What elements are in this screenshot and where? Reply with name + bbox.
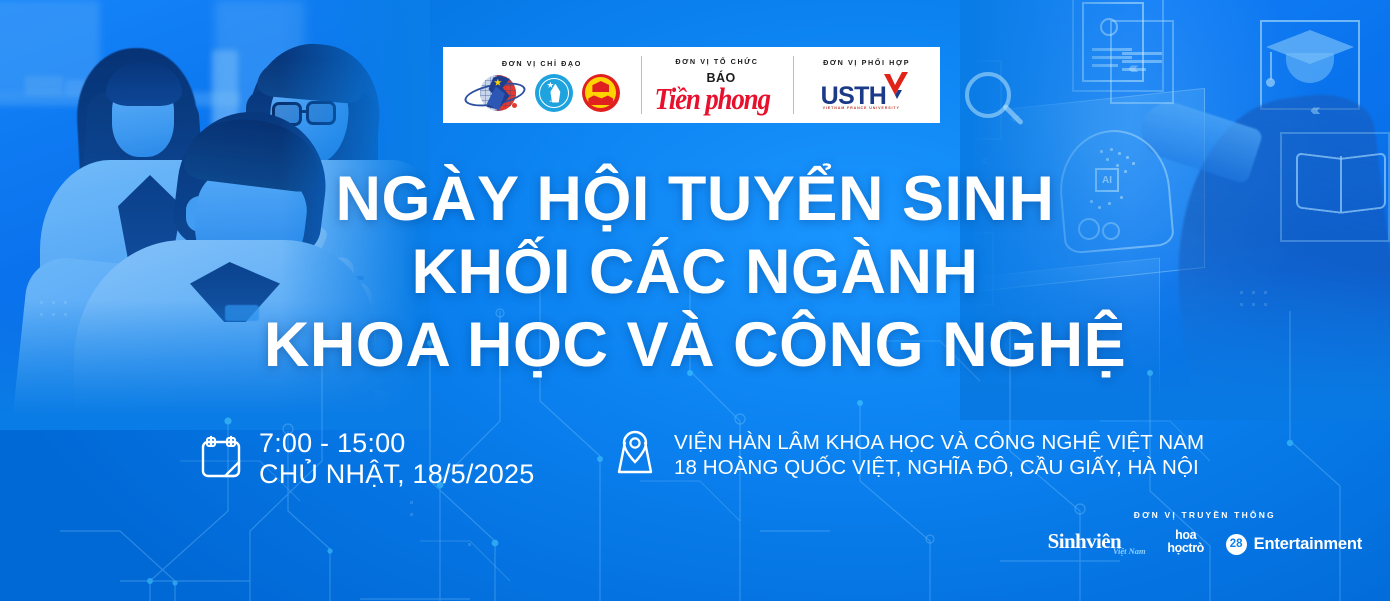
logo-column-caption: ĐƠN VỊ PHỐI HỢP: [823, 58, 910, 67]
event-title: NGÀY HỘI TUYỂN SINH KHỐI CÁC NGÀNH KHOA …: [0, 163, 1390, 382]
venue-name: VIỆN HÀN LÂM KHOA HỌC VÀ CÔNG NGHỆ VIỆT …: [674, 430, 1204, 455]
sinh-vien-viet-nam-logo: Sinhviên Việt Nam: [1048, 529, 1146, 559]
logo-column-to-chuc: ĐƠN VỊ TỔ CHỨC BÁO Tiền phong: [641, 47, 793, 123]
hoa-hoc-tro-logo: hoa họctrò: [1160, 529, 1212, 559]
usth-checkmark-icon: [881, 70, 911, 100]
flame-circle-logo: ●●●●●: [535, 74, 573, 112]
28-badge-icon: 28: [1226, 534, 1247, 555]
usth-logo: USTH VIETNAM FRANCE UNIVERSITY: [817, 72, 917, 114]
entertainment-text: Entertainment: [1254, 535, 1362, 554]
28-entertainment-logo: 28 Entertainment: [1226, 534, 1362, 555]
magnifier-icon: [965, 72, 1011, 118]
event-day: CHỦ NHẬT, 18/5/2025: [259, 459, 534, 490]
event-location-text: VIỆN HÀN LÂM KHOA HỌC VÀ CÔNG NGHỆ VIỆT …: [674, 430, 1204, 480]
title-line-3: KHOA HỌC VÀ CÔNG NGHỆ: [0, 309, 1390, 382]
media-partners-block: ĐƠN VỊ TRUYỀN THÔNG Sinhviên Việt Nam ho…: [1048, 510, 1362, 559]
event-time: 7:00 - 15:00: [259, 428, 534, 459]
event-location-block: VIỆN HÀN LÂM KHOA HỌC VÀ CÔNG NGHỆ VIỆT …: [613, 428, 1204, 481]
map-pin-icon: [613, 428, 657, 481]
sinh-vien-main-text: Sinhviên: [1048, 529, 1121, 554]
vast-logo: [464, 73, 526, 113]
event-datetime-block: 7:00 - 15:00 CHỦ NHẬT, 18/5/2025: [199, 428, 534, 490]
logo-column-chi-dao: ĐƠN VỊ CHỈ ĐẠO ●●●●●: [443, 47, 641, 123]
red-yellow-emblem-logo: [582, 74, 620, 112]
logo-column-caption: ĐƠN VỊ TỔ CHỨC: [675, 57, 758, 66]
logo-column-phoi-hop: ĐƠN VỊ PHỐI HỢP USTH VIETNAM FRANCE UNIV…: [793, 47, 940, 123]
venue-address: 18 HOÀNG QUỐC VIỆT, NGHĨA ĐÔ, CẦU GIẤY, …: [674, 455, 1204, 480]
hoa-hoc-tro-line-2: họctrò: [1160, 542, 1212, 555]
title-line-2: KHỐI CÁC NGÀNH: [0, 236, 1390, 309]
event-datetime-text: 7:00 - 15:00 CHỦ NHẬT, 18/5/2025: [259, 428, 534, 490]
logo-column-caption: ĐƠN VỊ CHỈ ĐẠO: [502, 59, 582, 68]
title-line-1: NGÀY HỘI TUYỂN SINH: [0, 163, 1390, 236]
tien-phong-main-text: Tiền phong: [654, 82, 769, 117]
calendar-icon: [199, 434, 243, 485]
sinh-vien-sub-text: Việt Nam: [1113, 546, 1146, 556]
event-banner: AI ‹‹‹‹ ‹‹‹‹ ‹‹‹ ‹‹‹‹: [0, 0, 1390, 601]
media-partners-caption: ĐƠN VỊ TRUYỀN THÔNG: [1048, 510, 1362, 520]
usth-sub-text: VIETNAM FRANCE UNIVERSITY: [823, 106, 900, 110]
organizer-logo-band: ĐƠN VỊ CHỈ ĐẠO ●●●●●: [443, 47, 940, 123]
bao-tien-phong-logo: BÁO Tiền phong: [654, 71, 779, 115]
